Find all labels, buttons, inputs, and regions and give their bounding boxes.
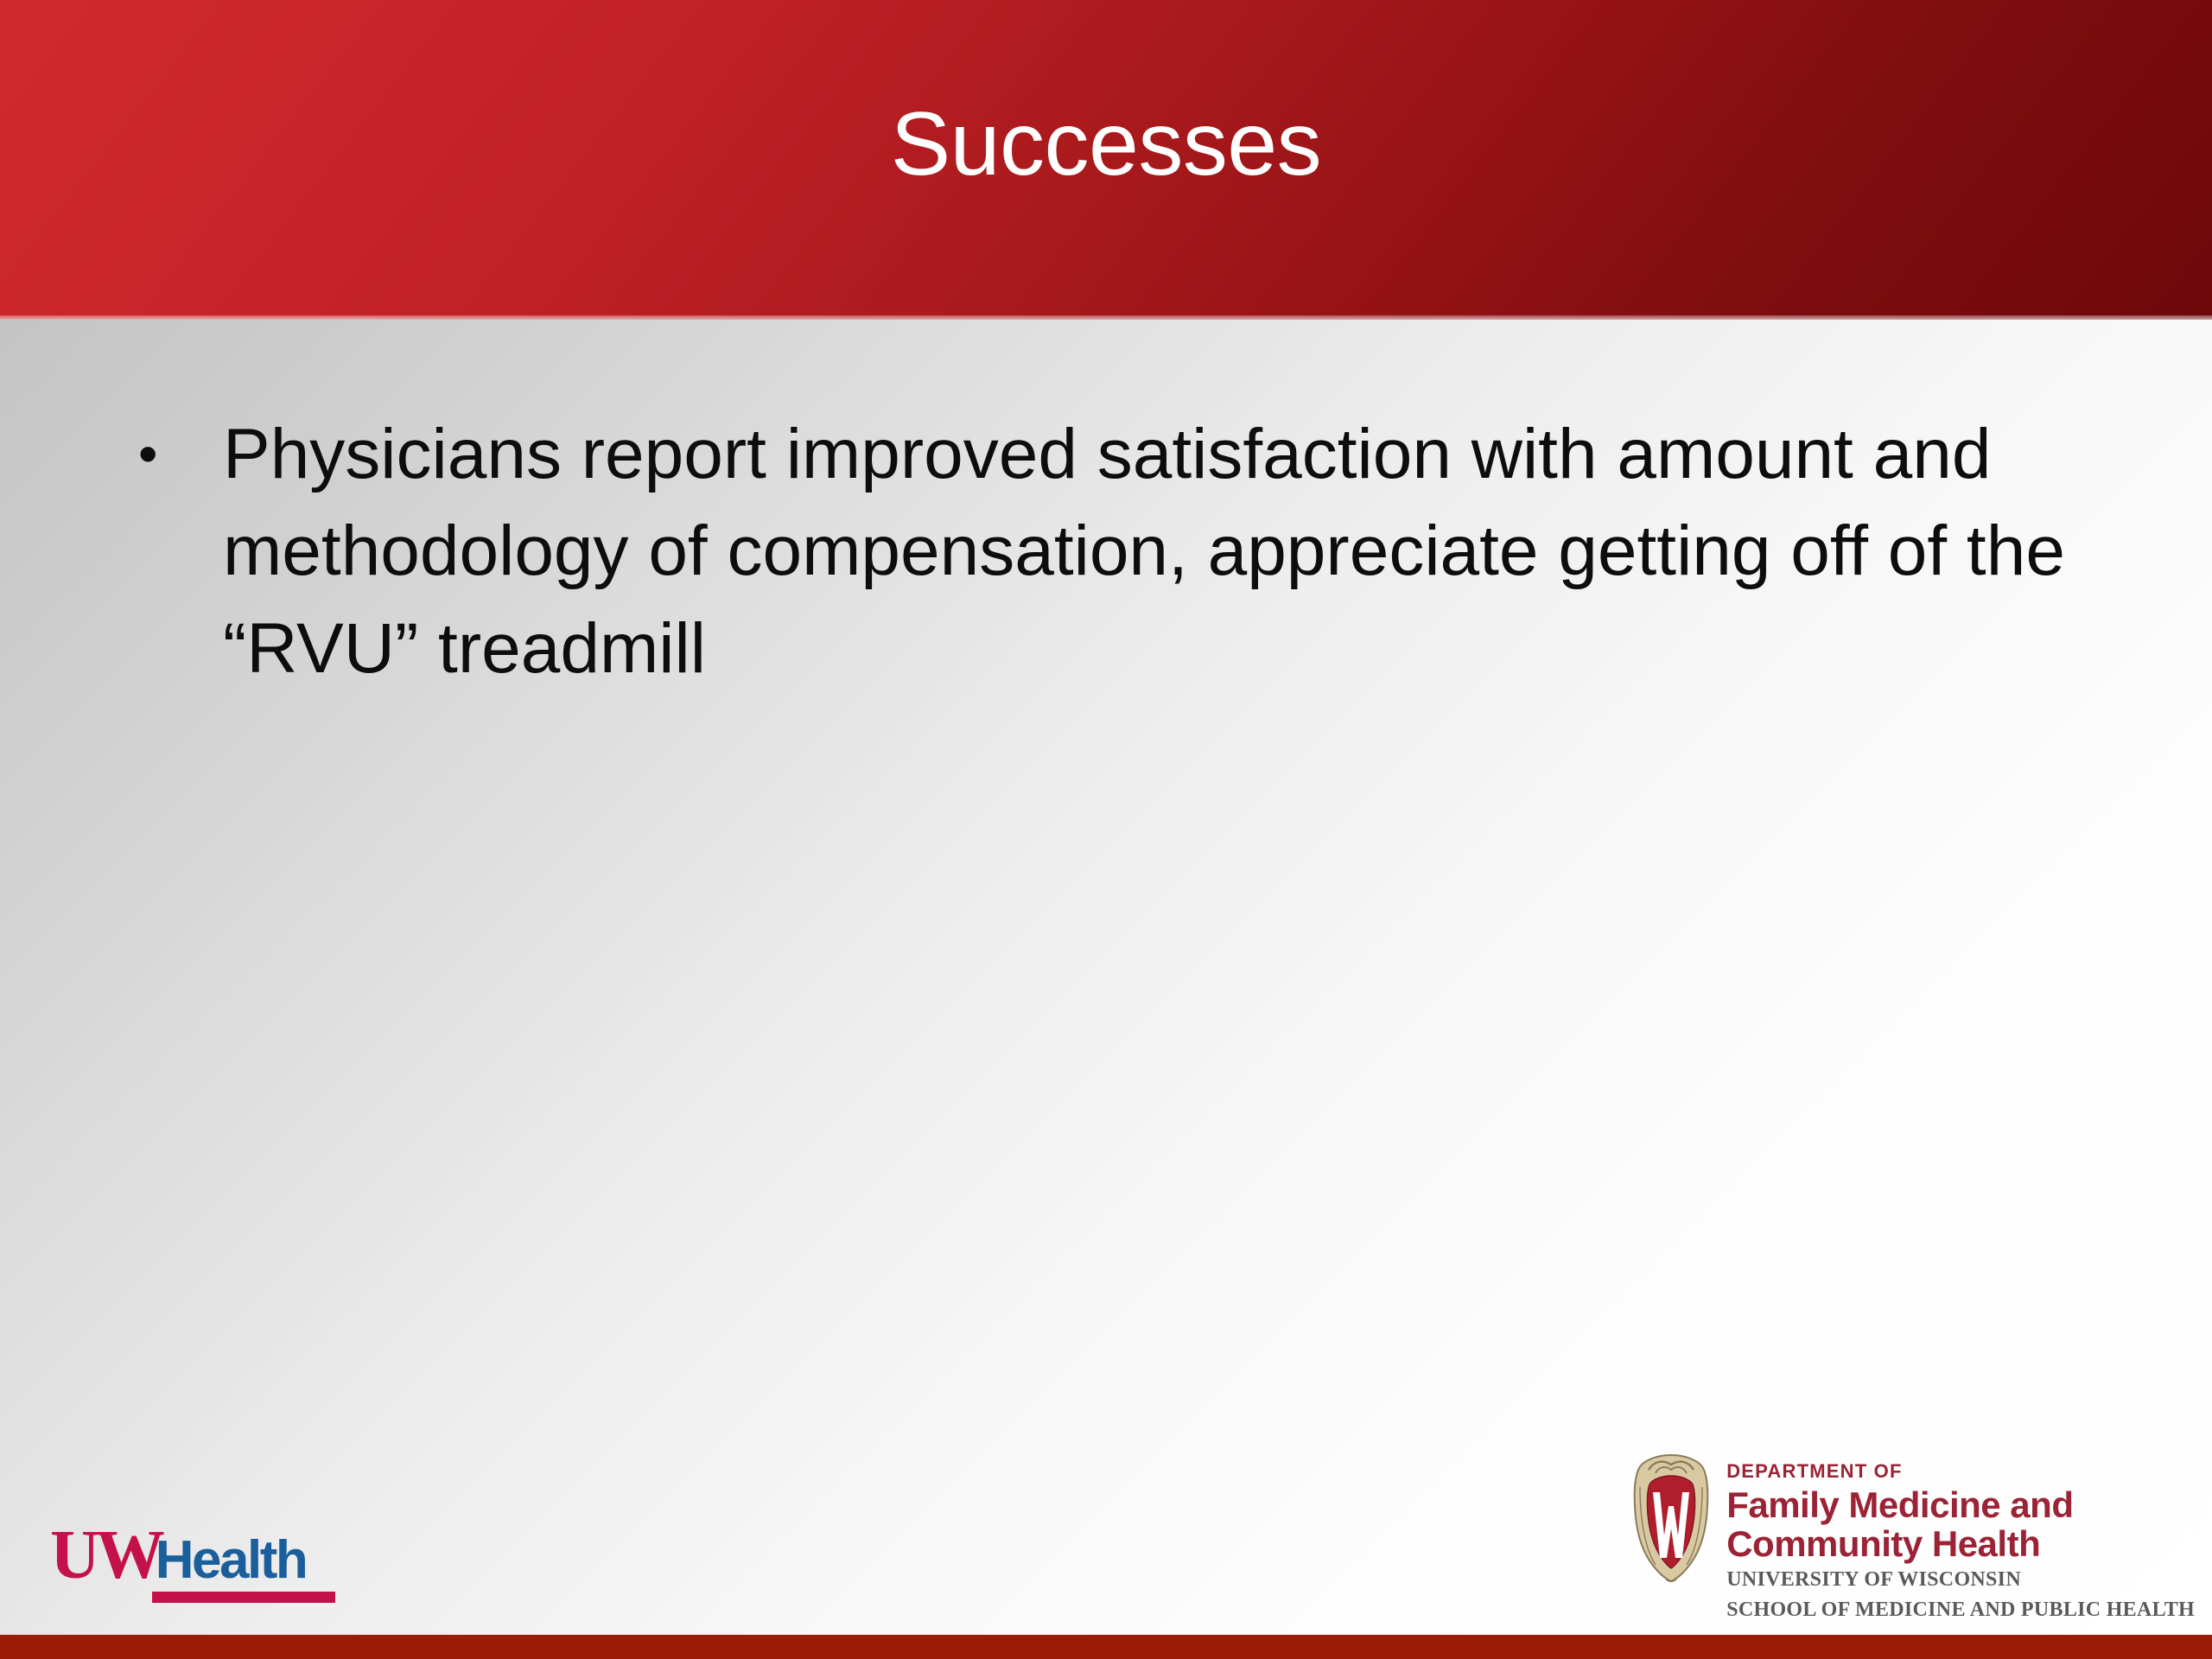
bullet-point-icon: • bbox=[130, 406, 223, 501]
uw-health-wordmark: UWHealth bbox=[50, 1524, 335, 1586]
slide-footer-bar bbox=[0, 1635, 2212, 1659]
smph-department-of-label: DEPARTMENT OF bbox=[1726, 1461, 2195, 1482]
bullet-list-item: • Physicians report improved satisfactio… bbox=[130, 406, 2134, 697]
smph-unit-line-1: Family Medicine and bbox=[1726, 1486, 2195, 1525]
slide-title: Successes bbox=[0, 97, 2212, 192]
uw-smph-family-medicine-logo: DEPARTMENT OF Family Medicine and Commun… bbox=[1631, 1452, 2195, 1623]
uw-health-underline-rule bbox=[152, 1592, 335, 1603]
uw-crest-shield-icon bbox=[1631, 1452, 1711, 1584]
uw-health-uw-text: UW bbox=[50, 1517, 161, 1593]
smph-institution-line-1: UNIVERSITY OF WISCONSIN bbox=[1726, 1567, 2195, 1592]
smph-logo-text-block: DEPARTMENT OF Family Medicine and Commun… bbox=[1726, 1452, 2195, 1623]
bullet-list: • Physicians report improved satisfactio… bbox=[130, 406, 2134, 697]
presentation-slide: Successes • Physicians report improved s… bbox=[0, 0, 2212, 1659]
bullet-list-item-text: Physicians report improved satisfaction … bbox=[223, 406, 2107, 697]
slide-content-area: • Physicians report improved satisfactio… bbox=[0, 320, 2212, 1573]
smph-unit-line-2: Community Health bbox=[1726, 1525, 2195, 1564]
uw-health-health-text: Health bbox=[156, 1530, 306, 1590]
smph-institution-line-2: SCHOOL OF MEDICINE AND PUBLIC HEALTH bbox=[1726, 1598, 2195, 1623]
uw-health-logo: UWHealth bbox=[50, 1524, 335, 1619]
